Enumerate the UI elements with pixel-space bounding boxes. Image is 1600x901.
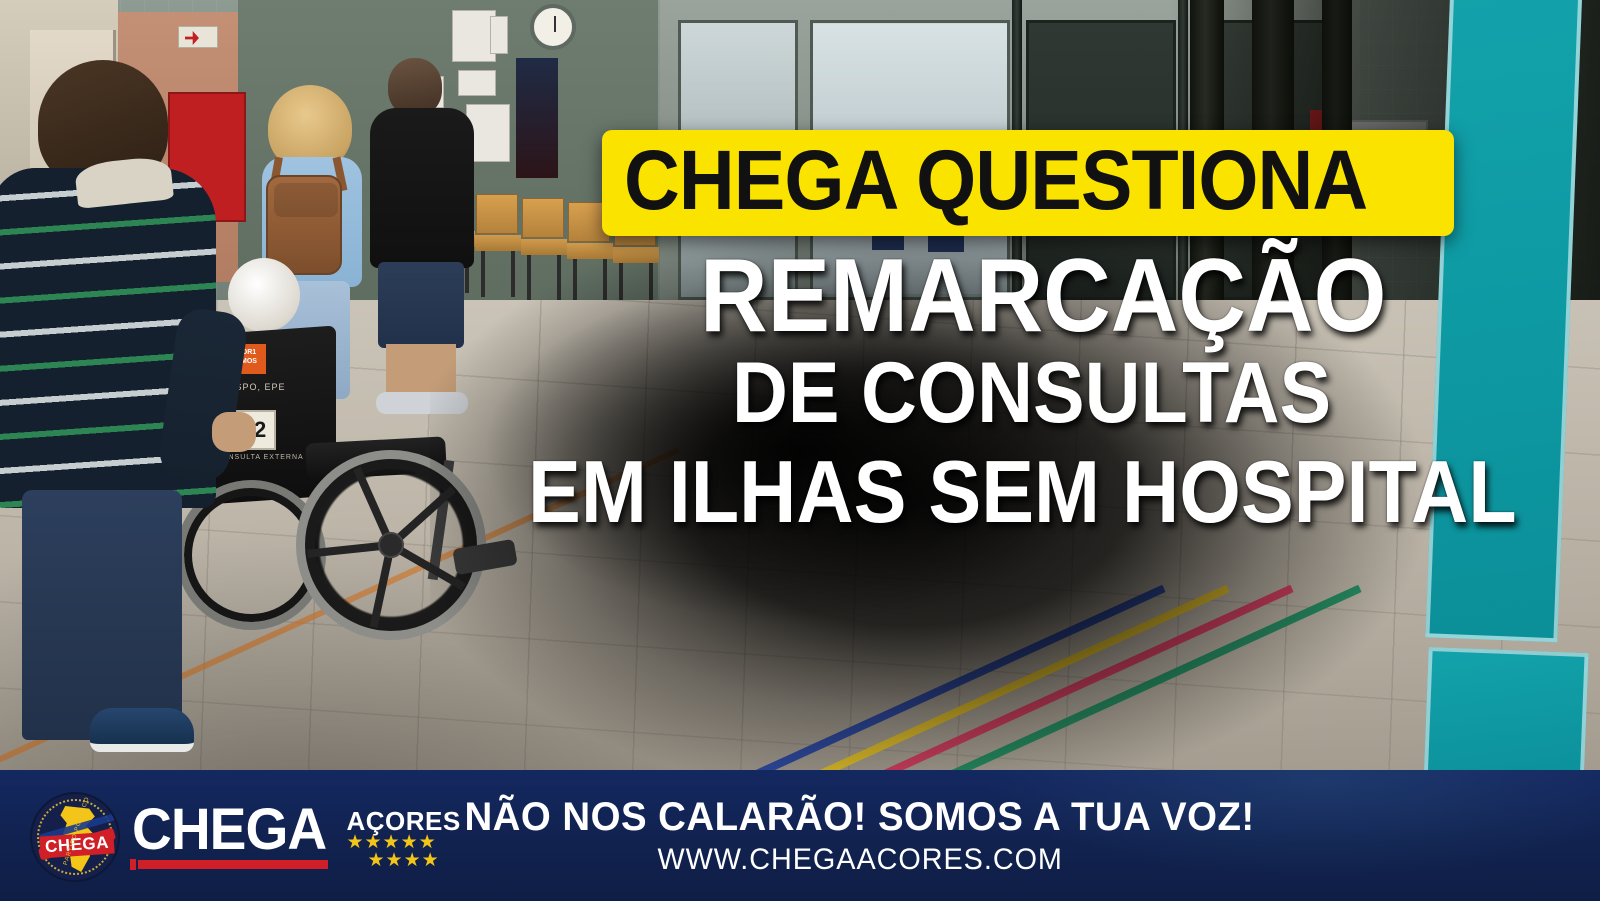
headline-line-3: DE CONSULTAS bbox=[732, 350, 1441, 436]
chega-acores-logo[interactable]: CHEGA PARTIDO POLÍTICO CHEGA AÇORES ★★★★… bbox=[30, 792, 461, 882]
footer-website[interactable]: WWW.CHEGAACORES.COM bbox=[657, 843, 1062, 877]
black-tshirt bbox=[370, 108, 474, 268]
chega-wordmark: CHEGA AÇORES ★★★★★ ★★★★ bbox=[132, 804, 461, 870]
wheel-hub bbox=[378, 532, 404, 558]
jeans bbox=[22, 490, 182, 740]
wall-notice-6 bbox=[490, 16, 508, 54]
poster-canvas: OR1 MOS HOSPO, EPE 32 CONSULTA EXTERNA bbox=[0, 0, 1600, 901]
footer-bar: NÃO NOS CALARÃO! SOMOS A TUA VOZ! WWW.CH… bbox=[0, 770, 1600, 901]
headline-yellow-banner: CHEGA QUESTIONA bbox=[602, 130, 1454, 236]
headline-line-4: EM ILHAS SEM HOSPITAL bbox=[528, 448, 1421, 536]
emergency-exit-sign-icon bbox=[178, 26, 218, 48]
badge-microtext: PARTIDO POLÍTICO bbox=[32, 794, 120, 882]
foreground-man-pushing-wheelchair bbox=[0, 60, 230, 775]
headline-line-1: CHEGA QUESTIONA bbox=[624, 138, 1367, 222]
hand bbox=[212, 412, 256, 452]
footer-slogan: NÃO NOS CALARÃO! SOMOS A TUA VOZ! bbox=[465, 795, 1255, 839]
sneaker bbox=[90, 708, 194, 752]
standing-man-black-shirt bbox=[364, 58, 484, 358]
chega-party-badge-icon: CHEGA PARTIDO POLÍTICO bbox=[30, 792, 120, 882]
headline-block: CHEGA QUESTIONA REMARCAÇÃO DE CONSULTAS … bbox=[520, 130, 1520, 536]
wordmark-acores-text: AÇORES bbox=[346, 808, 460, 834]
wall-clock-icon bbox=[530, 4, 576, 50]
headline-line-2: REMARCAÇÃO bbox=[700, 246, 1438, 346]
wordmark-region-block: AÇORES ★★★★★ ★★★★ bbox=[346, 804, 460, 870]
wheelchair-main-wheel bbox=[296, 450, 486, 640]
wordmark-chega-text: CHEGA bbox=[132, 804, 326, 856]
stars-bottom: ★★★★ bbox=[346, 852, 460, 870]
wordmark-red-underline bbox=[138, 860, 328, 869]
